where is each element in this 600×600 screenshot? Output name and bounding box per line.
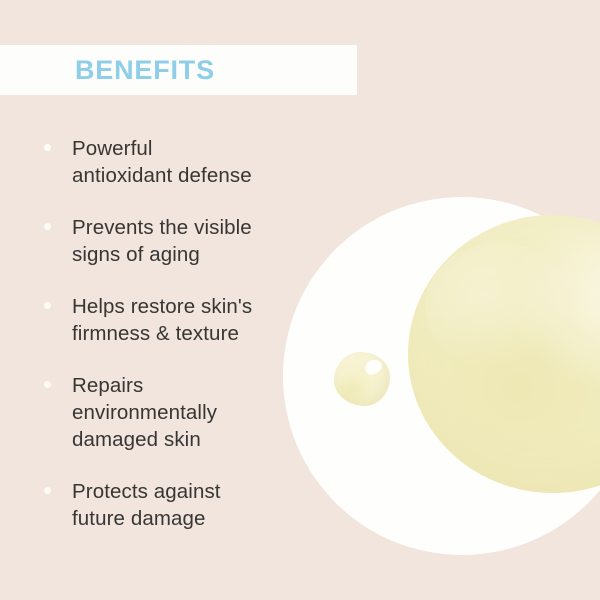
white-circle-backdrop (283, 197, 600, 555)
bullet-dot-icon (44, 302, 51, 309)
serum-droplet-large-icon (408, 215, 600, 493)
benefit-text: Prevents the visible signs of aging (72, 214, 305, 268)
list-item: Repairs environmentally damaged skin (40, 372, 305, 453)
list-item: Powerful antioxidant defense (40, 135, 305, 189)
header-banner: BENEFITS (0, 45, 357, 95)
page-title: BENEFITS (75, 57, 215, 84)
list-item: Prevents the visible signs of aging (40, 214, 305, 268)
bullet-dot-icon (44, 223, 51, 230)
serum-droplet-small-icon (334, 352, 390, 406)
bullet-dot-icon (44, 381, 51, 388)
benefit-text: Protects against future damage (72, 478, 305, 532)
bullet-dot-icon (44, 144, 51, 151)
benefits-list: Powerful antioxidant defense Prevents th… (40, 135, 305, 532)
bullet-dot-icon (44, 487, 51, 494)
benefit-text: Powerful antioxidant defense (72, 135, 305, 189)
benefits-slide: BENEFITS Powerful antioxidant defense Pr… (0, 0, 600, 600)
benefit-text: Repairs environmentally damaged skin (72, 372, 305, 453)
list-item: Helps restore skin's firmness & texture (40, 293, 305, 347)
benefit-text: Helps restore skin's firmness & texture (72, 293, 305, 347)
list-item: Protects against future damage (40, 478, 305, 532)
